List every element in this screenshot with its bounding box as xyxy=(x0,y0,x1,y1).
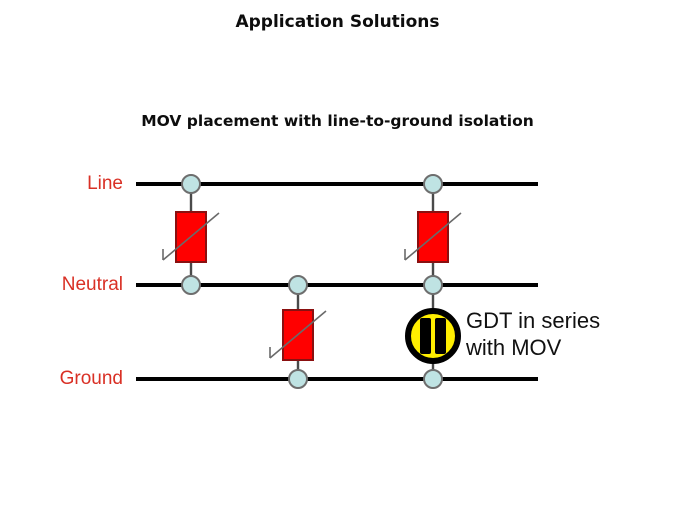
node-neutral-left xyxy=(182,276,200,294)
node-neutral-right xyxy=(424,276,442,294)
node-line-left xyxy=(182,175,200,193)
node-neutral-mid xyxy=(289,276,307,294)
node-line-right xyxy=(424,175,442,193)
rail-label-neutral: Neutral xyxy=(10,274,123,296)
gdt-electrode-left xyxy=(420,318,431,354)
gdt-annotation-text: GDT in series with MOV xyxy=(466,307,666,361)
gdt-electrode-right xyxy=(435,318,446,354)
mov-neutral-to-ground[interactable] xyxy=(270,310,326,360)
rail-label-ground: Ground xyxy=(10,368,123,390)
gdt-neutral-to-ground[interactable] xyxy=(408,311,458,361)
mov-line-to-neutral-right[interactable] xyxy=(405,212,461,262)
slide-canvas: Application Solutions MOV placement with… xyxy=(0,0,675,506)
circuit-svg xyxy=(0,0,675,506)
circuit-diagram: Line Neutral Ground GDT in series with M… xyxy=(0,0,675,506)
gdt-outer-ring xyxy=(408,311,458,361)
mov-line-to-neutral[interactable] xyxy=(163,212,219,262)
rail-label-line: Line xyxy=(10,173,123,195)
node-ground-right xyxy=(424,370,442,388)
node-ground-mid xyxy=(289,370,307,388)
